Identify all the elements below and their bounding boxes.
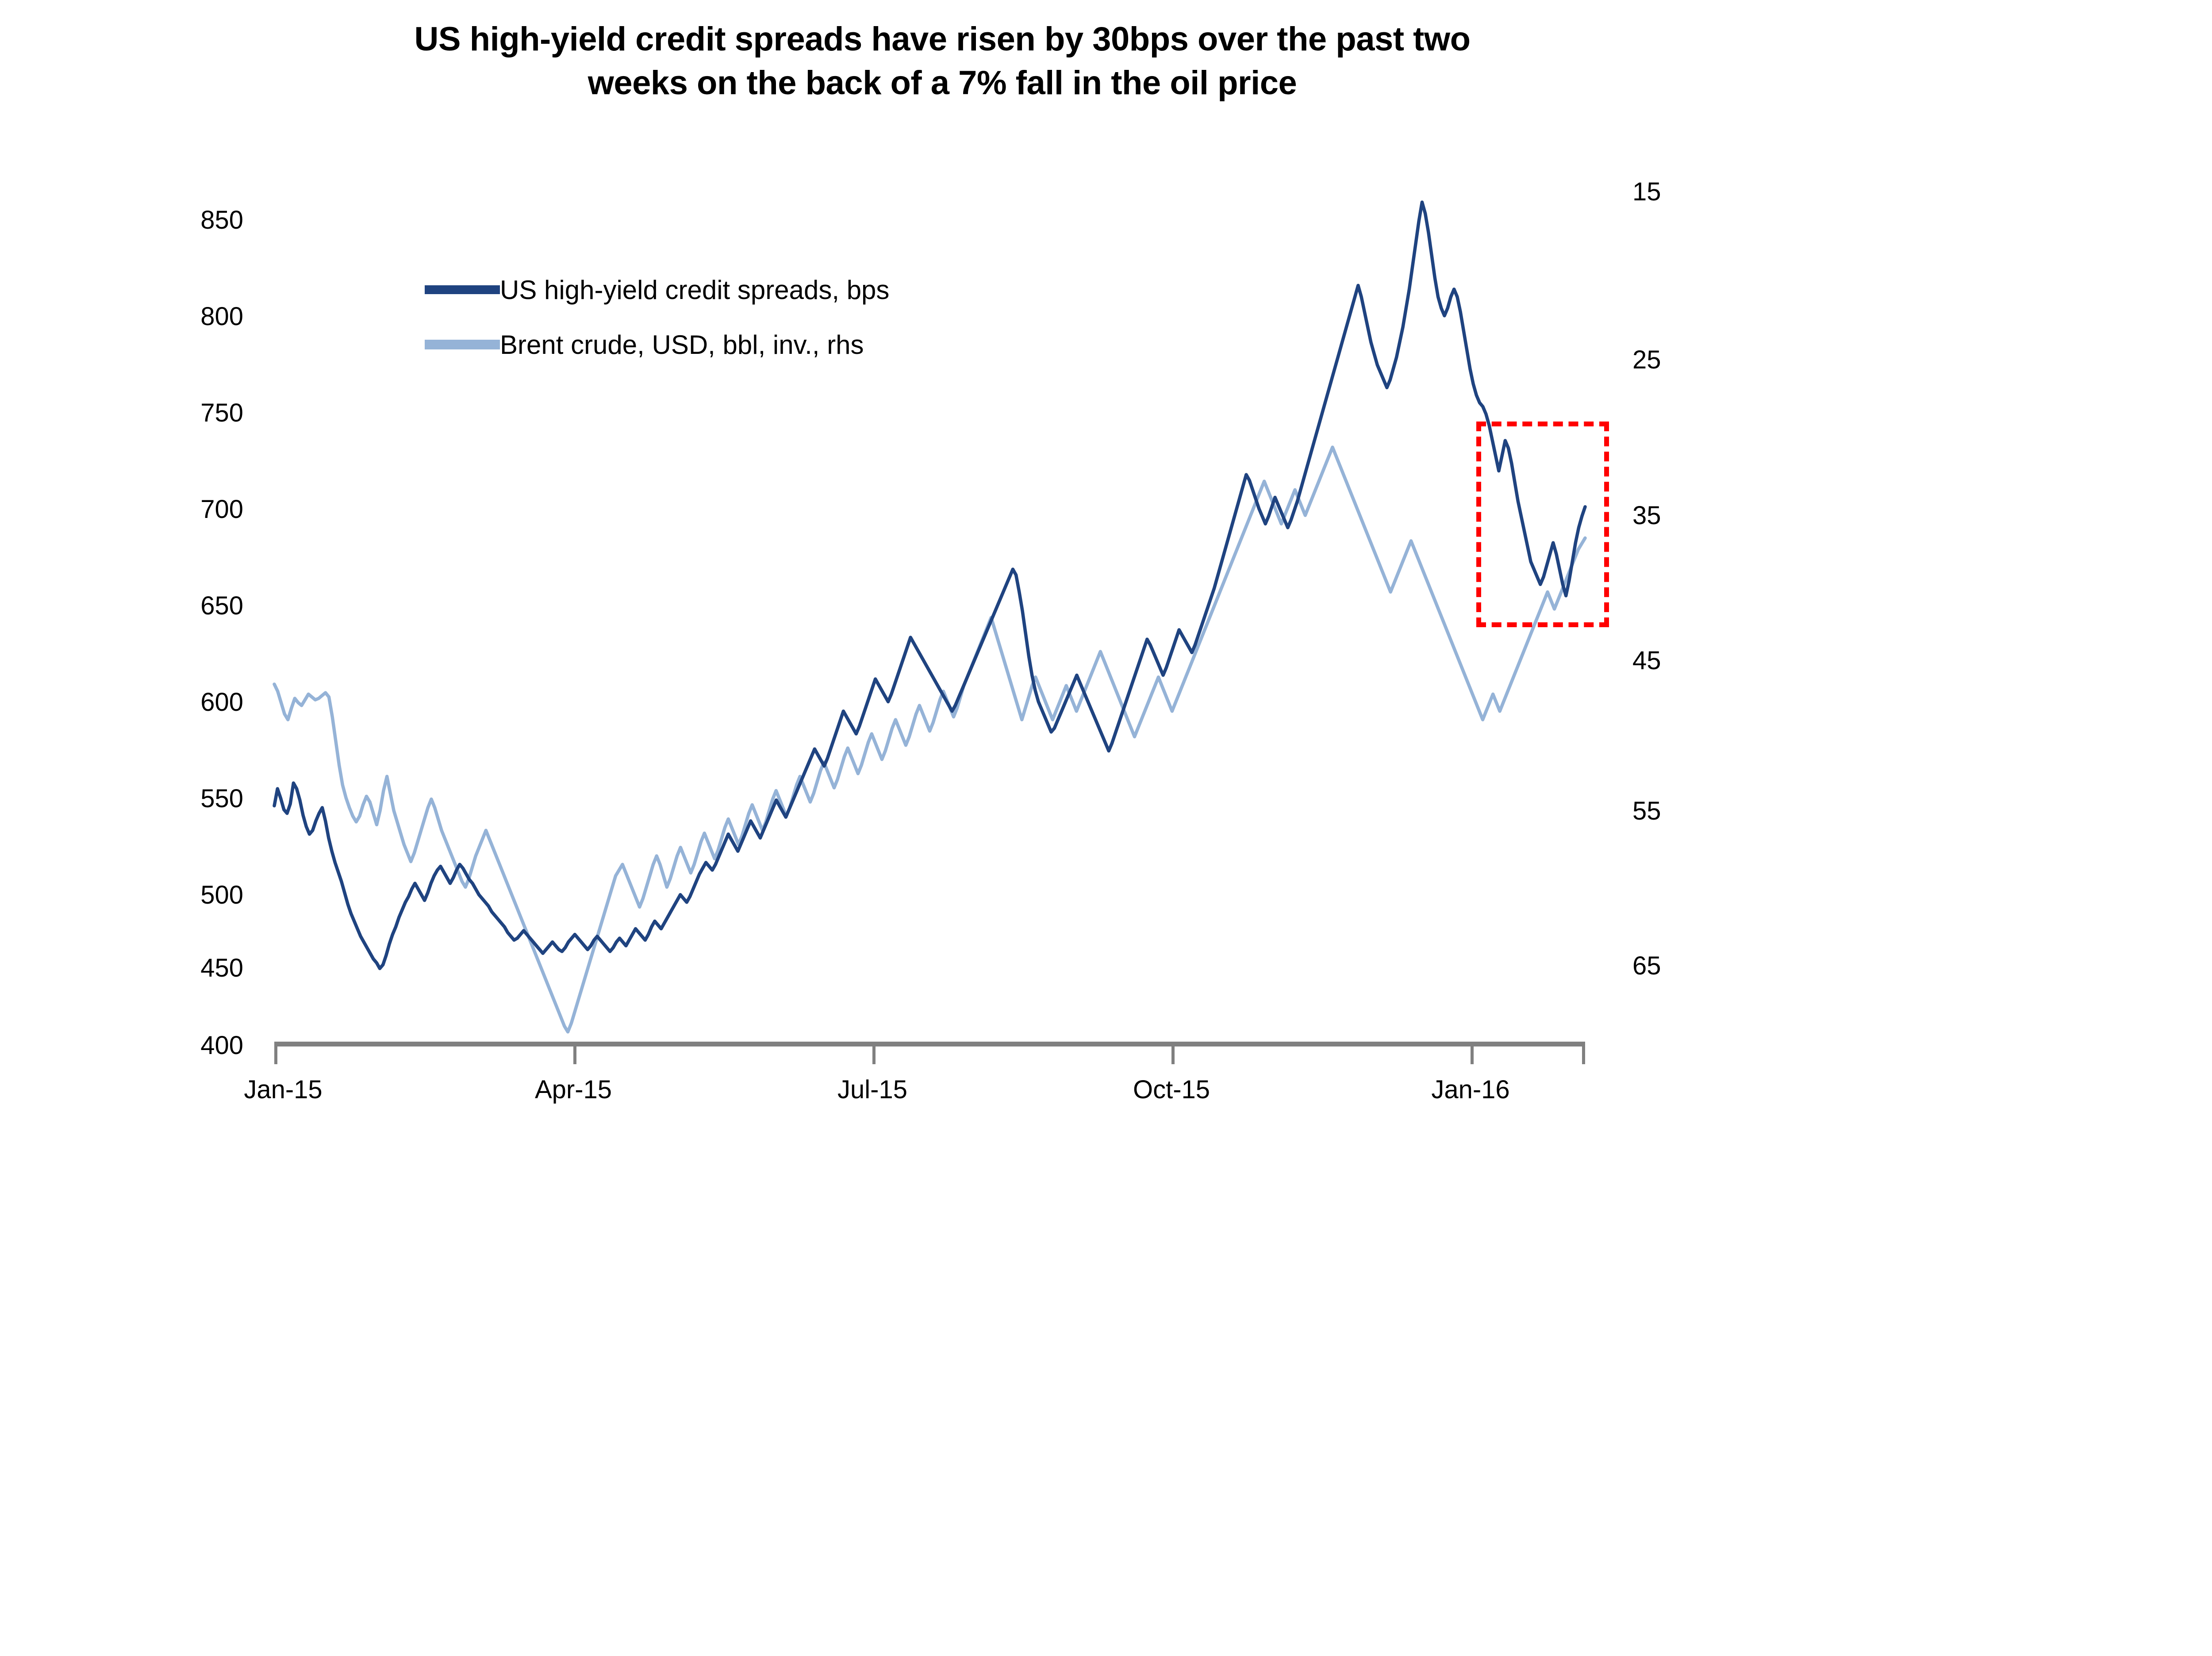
y-axis-left-tick-750: 750: [128, 398, 243, 428]
legend-label-brent-crude: Brent crude, USD, bbl, inv., rhs: [500, 330, 864, 360]
legend-item-us-high-yield-spreads: US high-yield credit spreads, bps: [425, 265, 889, 314]
y-axis-right-tick-45: 45: [1632, 646, 1730, 675]
legend-swatch-navy-line-icon: [425, 285, 500, 294]
legend-item-brent-crude: Brent crude, USD, bbl, inv., rhs: [425, 320, 889, 369]
x-axis-tick-jan-15: [274, 1046, 277, 1064]
x-axis-tick-apr-15: [573, 1046, 576, 1064]
x-axis-tick-jul-15: [872, 1046, 876, 1064]
y-axis-right-tick-25: 25: [1632, 345, 1730, 375]
x-axis-tick-jan-16: [1471, 1046, 1474, 1064]
y-axis-right-tick-15: 15: [1632, 177, 1730, 207]
highlight-annotation-box: [1476, 422, 1609, 627]
x-axis-label-oct-15: Oct-15: [1083, 1075, 1260, 1104]
y-axis-left-tick-700: 700: [128, 494, 243, 524]
chart-legend: US high-yield credit spreads, bps Brent …: [425, 265, 889, 369]
x-axis-tick-end: [1582, 1046, 1585, 1064]
y-axis-left-tick-400: 400: [128, 1031, 243, 1060]
y-axis-right-tick-65: 65: [1632, 951, 1730, 981]
y-axis-left-tick-850: 850: [128, 205, 243, 235]
x-axis-label-jan-16: Jan-16: [1382, 1075, 1559, 1104]
chart-title-line-1: US high-yield credit spreads have risen …: [18, 18, 1867, 61]
y-axis-left-tick-500: 500: [128, 880, 243, 910]
chart-title-line-2: weeks on the back of a 7% fall in the oi…: [18, 61, 1867, 105]
y-axis-left-tick-650: 650: [128, 591, 243, 621]
y-axis-left-tick-800: 800: [128, 302, 243, 331]
legend-label-us-high-yield-spreads: US high-yield credit spreads, bps: [500, 275, 889, 305]
chart-container: US high-yield credit spreads have risen …: [0, 0, 2212, 1656]
y-axis-right-tick-35: 35: [1632, 501, 1730, 530]
x-axis-label-jan-15: Jan-15: [195, 1075, 372, 1104]
y-axis-left-tick-450: 450: [128, 953, 243, 983]
y-axis-right-tick-55: 55: [1632, 796, 1730, 826]
y-axis-left-tick-600: 600: [128, 687, 243, 717]
legend-swatch-lightblue-line-icon: [425, 340, 500, 349]
y-axis-left-tick-550: 550: [128, 784, 243, 813]
x-axis-tick-oct-15: [1171, 1046, 1175, 1064]
x-axis-line: [274, 1042, 1585, 1046]
x-axis-label-jul-15: Jul-15: [784, 1075, 961, 1104]
series-line-brent-crude: [274, 447, 1585, 1032]
x-axis-label-apr-15: Apr-15: [485, 1075, 662, 1104]
chart-title: US high-yield credit spreads have risen …: [18, 18, 1867, 105]
